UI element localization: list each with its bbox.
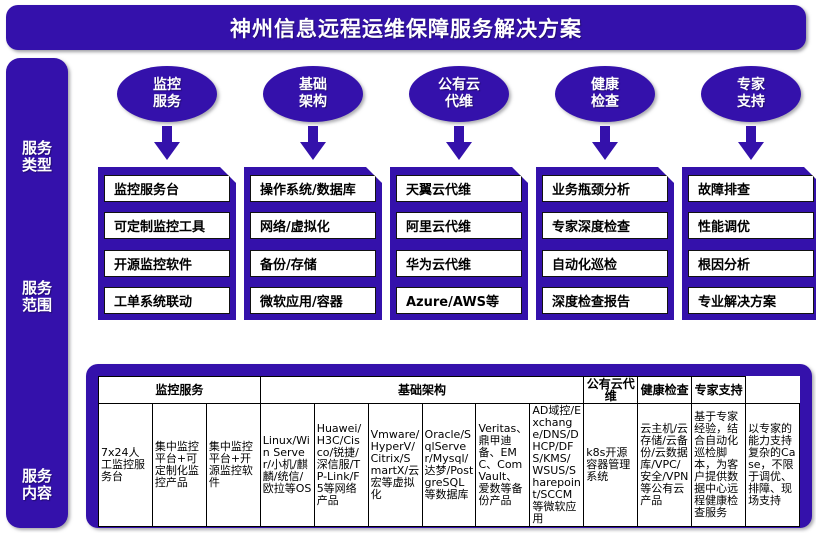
service-scope-item[interactable]: 备份/存储 [250,250,376,277]
service-scope-card-1: 监控服务台可定制监控工具开源监控软件工单系统联动 [98,167,236,320]
service-type-label: 公有云代维 [438,77,480,111]
table-cell: Linux/Win Server/小机/麒麟/统信/欧拉等OS [260,404,314,527]
service-type-label: 监控服务 [153,77,181,111]
service-scope-item[interactable]: 自动化巡检 [542,250,668,277]
sidebar-item-service-scope-line1: 服务 [6,280,68,297]
sidebar-item-service-scope-line2: 范围 [6,297,68,314]
service-scope-item[interactable]: 天翼云代维 [396,175,522,202]
category-sidebar: 服务 类型 服务 范围 服务 内容 [6,58,68,528]
service-scope-item[interactable]: 深度检查报告 [542,287,668,314]
table-cell: k8s开源容器管理系统 [584,404,638,527]
service-type-ellipse-1[interactable]: 监控服务 [117,66,217,122]
service-type-label-line1: 监控 [153,77,181,94]
service-scope-item[interactable]: 根因分析 [688,250,814,277]
service-type-label-line1: 公有云 [438,77,480,94]
service-type-label-line2: 检查 [591,94,619,111]
table-cell: Huawei/H3C/Cisco/锐捷/深信服/TP-Link/F5等网络产品 [314,404,368,527]
service-type-ellipse-3[interactable]: 公有云代维 [409,66,509,122]
service-scope-item[interactable]: 专业解决方案 [688,287,814,314]
service-type-label: 基础架构 [299,77,327,111]
service-scope-item[interactable]: 开源监控软件 [104,250,230,277]
service-scope-item[interactable]: 可定制监控工具 [104,212,230,239]
down-arrow-icon-5 [738,126,764,160]
service-type-ellipse-4[interactable]: 健康检查 [555,66,655,122]
sidebar-item-service-scope: 服务 范围 [6,280,68,314]
service-type-label-line2: 架构 [299,94,327,111]
table-cell: 基于专家经验，结合自动化巡检脚本，为客户提供数据中心远程健康检查服务 [692,404,746,527]
service-type-label-line2: 服务 [153,94,181,111]
arrow-head [738,142,764,160]
service-scope-card-4: 业务瓶颈分析专家深度检查自动化巡检深度检查报告 [536,167,674,320]
slide-root: 神州信息远程运维保障服务解决方案 服务 类型 服务 范围 服务 内容 监控服务监… [0,0,816,533]
service-type-ellipse-2[interactable]: 基础架构 [263,66,363,122]
service-scope-card-3: 天翼云代维阿里云代维华为云代维Azure/AWS等 [390,167,528,320]
service-type-ellipse-5[interactable]: 专家支持 [701,66,801,122]
service-scope-item[interactable]: 网络/虚拟化 [250,212,376,239]
table-group-header: 专家支持 [692,377,746,404]
service-scope-item[interactable]: 微软应用/容器 [250,287,376,314]
service-scope-item[interactable]: 专家深度检查 [542,212,668,239]
service-scope-card-2: 操作系统/数据库网络/虚拟化备份/存储微软应用/容器 [244,167,382,320]
down-arrow-icon-3 [446,126,472,160]
service-type-label-line1: 健康 [591,77,619,94]
service-scope-card-5: 故障排查性能调优根因分析专业解决方案 [682,167,816,320]
table-cell: 云主机/云存储/云备份/云数据库/VPC/安全/VPN等公有云产品 [638,404,692,527]
service-scope-item[interactable]: 工单系统联动 [104,287,230,314]
down-arrow-icon-4 [592,126,618,160]
arrow-head [300,142,326,160]
service-scope-item[interactable]: 阿里云代维 [396,212,522,239]
table-cell: Oracle/SqlServer/Mysql/达梦/PostgreSQL等数据库 [422,404,476,527]
table-cell: 集中监控平台+开源监控软件 [206,404,260,527]
table-header-row: 监控服务基础架构公有云代维健康检查专家支持 [99,377,800,404]
service-type-label-line1: 基础 [299,77,327,94]
service-scope-item[interactable]: Azure/AWS等 [396,287,522,314]
service-scope-item[interactable]: 监控服务台 [104,175,230,202]
service-scope-item[interactable]: 性能调优 [688,212,814,239]
down-arrow-icon-1 [154,126,180,160]
arrow-head [154,142,180,160]
sidebar-item-service-content-line1: 服务 [6,468,68,485]
down-arrow-icon-2 [300,126,326,160]
service-scope-item[interactable]: 华为云代维 [396,250,522,277]
service-type-label-line1: 专家 [737,77,765,94]
service-type-label-line2: 代维 [438,94,480,111]
page-title: 神州信息远程运维保障服务解决方案 [230,13,582,43]
sidebar-item-service-type: 服务 类型 [6,140,68,174]
table-cell: 集中监控平台+可定制化监控产品 [152,404,206,527]
sidebar-item-service-content-line2: 内容 [6,485,68,502]
table-row: 7x24人工监控服务台集中监控平台+可定制化监控产品集中监控平台+开源监控软件L… [99,404,800,527]
service-type-label-line2: 支持 [737,94,765,111]
table-cell: Veritas、鼎甲迪备、EMC、ComVault、爱数等备份产品 [476,404,530,527]
table-cell: 以专家的能力支持复杂的Case，不限于调优、排障、现场支持 [746,404,800,527]
service-scope-item[interactable]: 业务瓶颈分析 [542,175,668,202]
arrow-head [592,142,618,160]
arrow-head [446,142,472,160]
service-scope-item[interactable]: 故障排查 [688,175,814,202]
sidebar-item-service-type-line1: 服务 [6,140,68,157]
table-cell: Vmware/HyperV/Citrix/SmartX/云宏等虚拟化 [368,404,422,527]
sidebar-item-service-content: 服务 内容 [6,468,68,502]
table-group-header: 监控服务 [99,377,261,404]
service-content-table: 监控服务基础架构公有云代维健康检查专家支持 7x24人工监控服务台集中监控平台+… [98,376,800,527]
page-title-banner: 神州信息远程运维保障服务解决方案 [6,5,806,50]
table-group-header: 健康检查 [638,377,692,404]
table-group-header: 公有云代维 [584,377,638,404]
table-group-header: 基础架构 [260,377,584,404]
service-type-label: 专家支持 [737,77,765,111]
sidebar-item-service-type-line2: 类型 [6,157,68,174]
service-type-label: 健康检查 [591,77,619,111]
service-content-panel: 监控服务基础架构公有云代维健康检查专家支持 7x24人工监控服务台集中监控平台+… [86,364,812,528]
service-scope-item[interactable]: 操作系统/数据库 [250,175,376,202]
table-cell: AD域控/Exchange/DNS/DHCP/DFS/KMS/WSUS/Shar… [530,404,584,527]
table-cell: 7x24人工监控服务台 [99,404,153,527]
